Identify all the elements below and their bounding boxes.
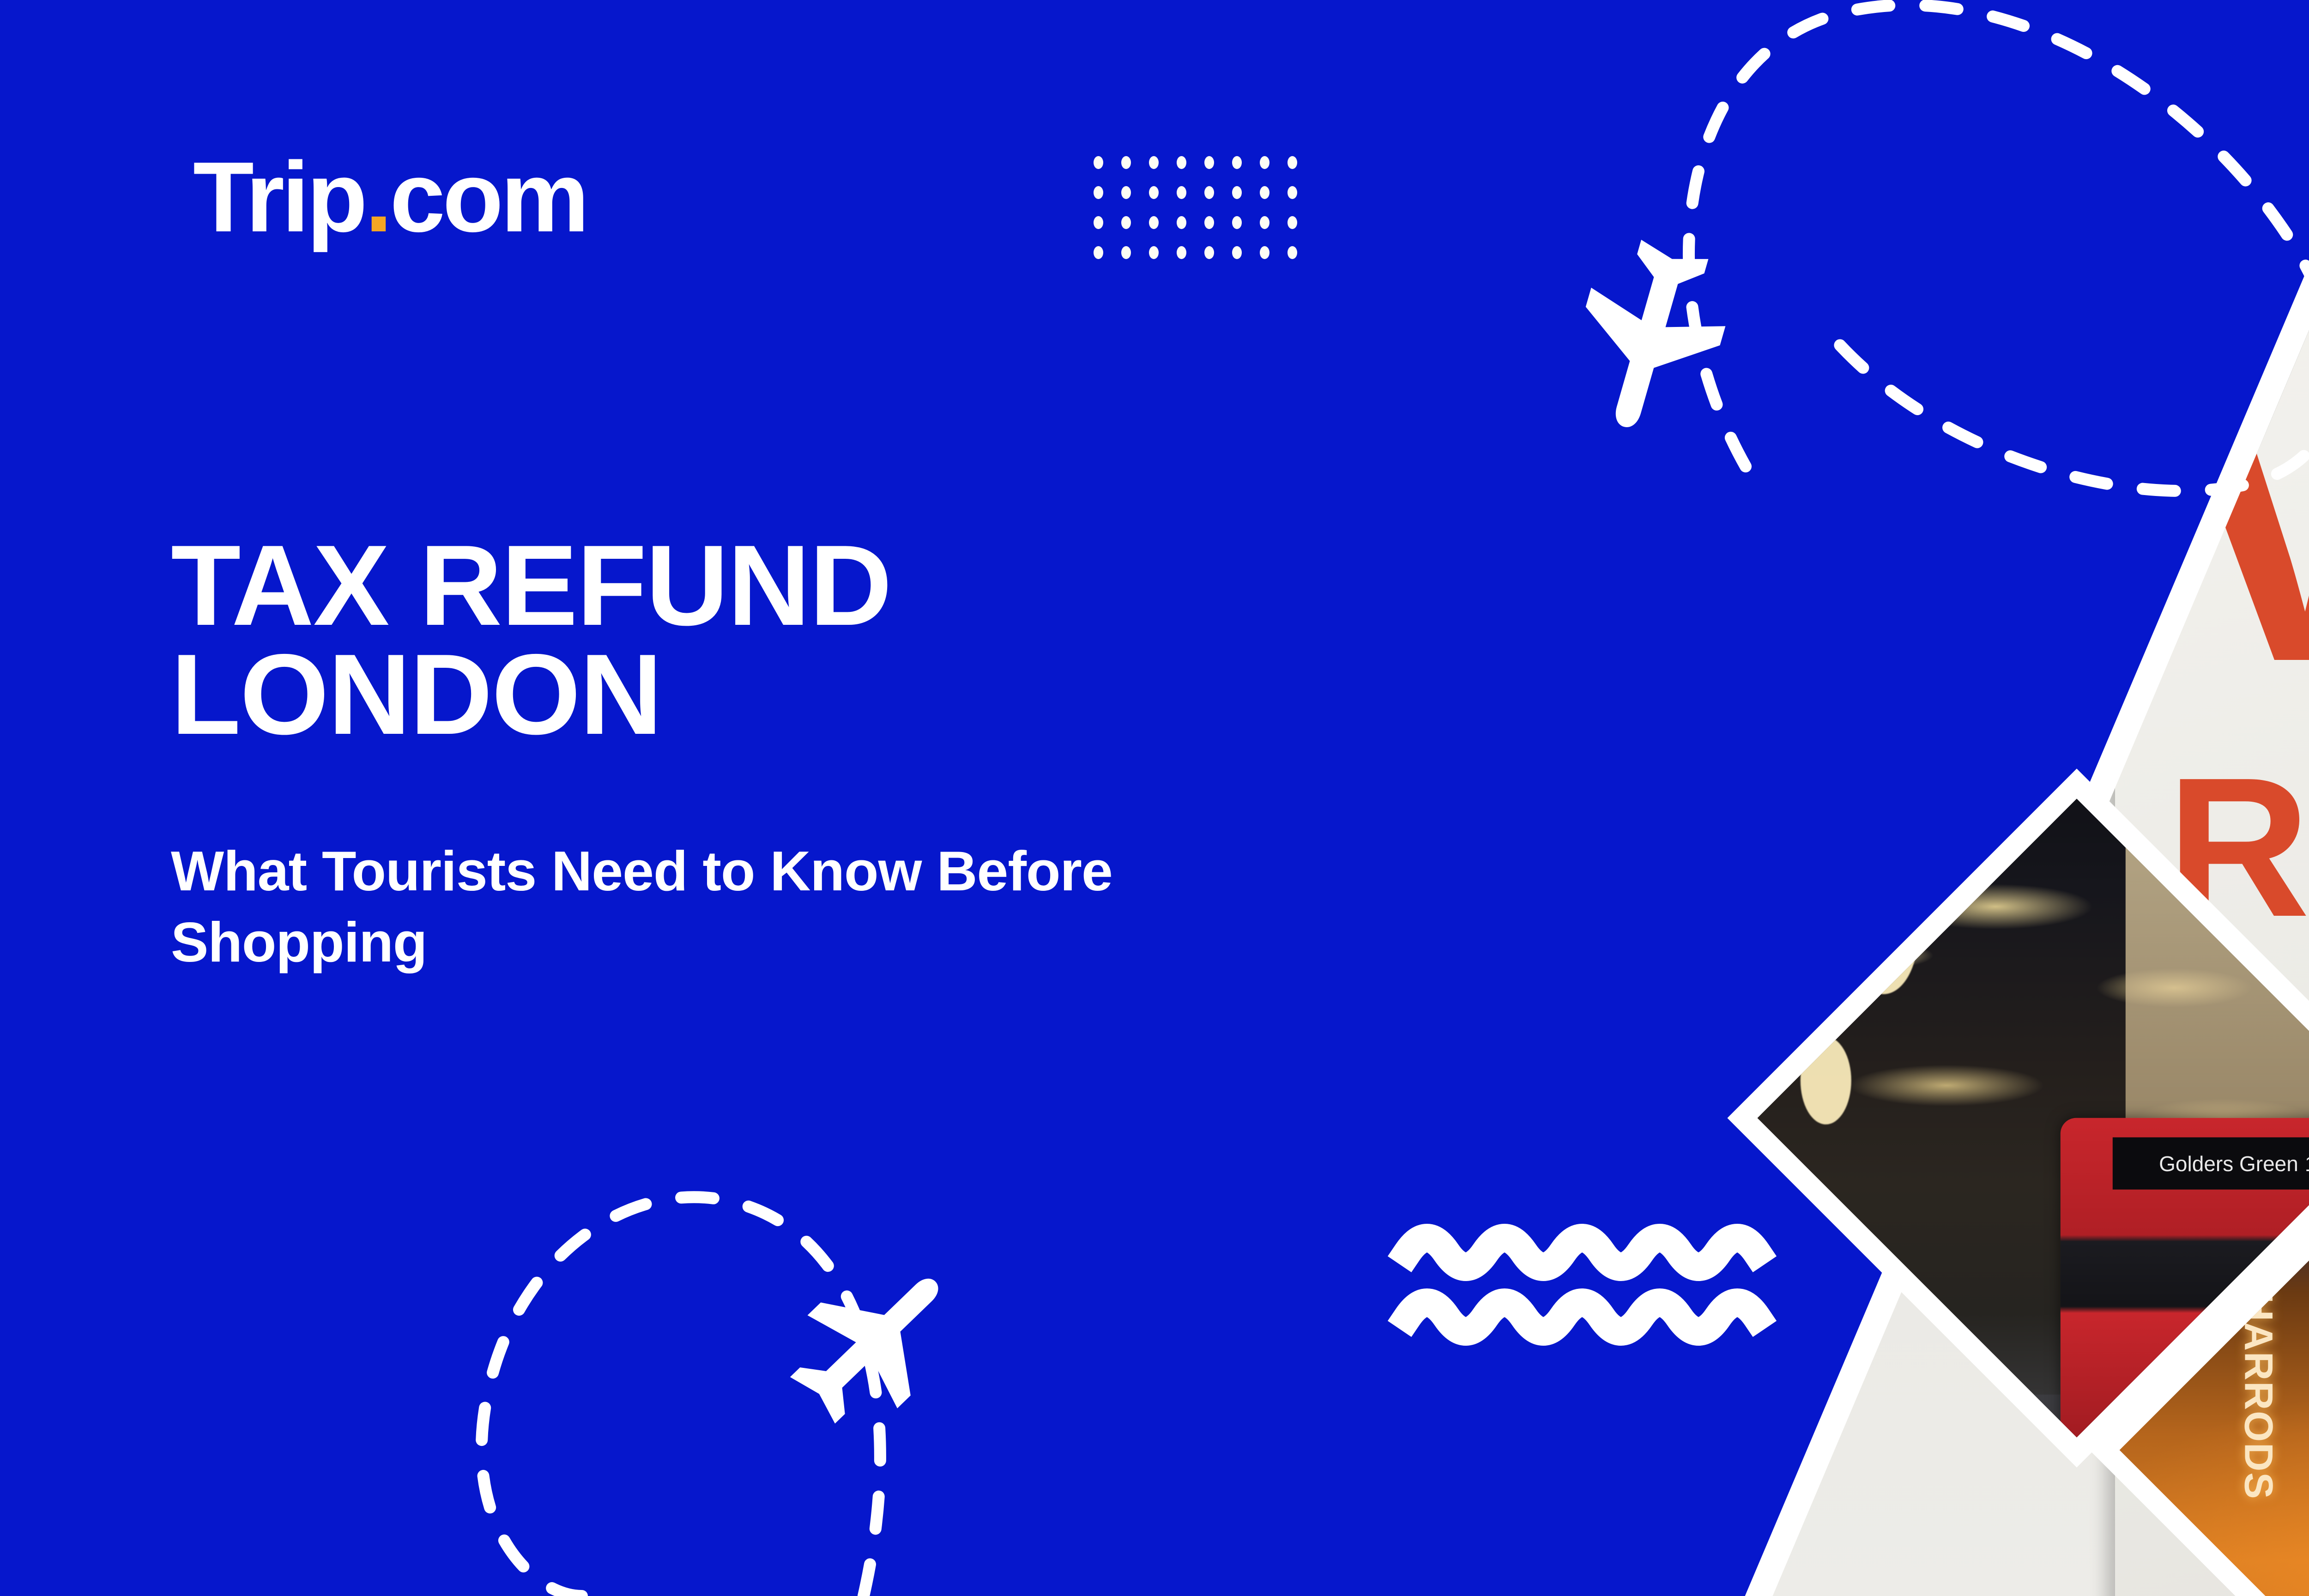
grid-dot	[1204, 246, 1214, 259]
grid-dot	[1149, 246, 1159, 259]
grid-dot	[1287, 186, 1297, 199]
logo-word-trip: Trip	[193, 147, 365, 247]
grid-dot	[1121, 156, 1131, 169]
grid-dot	[1094, 246, 1103, 259]
grid-dot	[1094, 216, 1103, 229]
shopfront-interior	[1736, 0, 2097, 933]
board-word-vat: VAT	[2166, 337, 2309, 695]
grid-dot	[1287, 246, 1297, 259]
grid-dot	[1204, 156, 1214, 169]
grid-dot	[1260, 186, 1269, 199]
grid-dot	[1287, 156, 1297, 169]
angel-light-figure	[1849, 874, 1918, 994]
grid-dot	[1149, 156, 1159, 169]
page-title: TAX REFUND LONDON	[171, 531, 1372, 749]
grid-dot	[1260, 156, 1269, 169]
logo-dot: .	[365, 147, 390, 247]
grid-dot	[1204, 216, 1214, 229]
grid-dot	[1177, 156, 1186, 169]
bus-route-number: 13	[2305, 1151, 2309, 1176]
grid-dot	[1149, 186, 1159, 199]
harrods-sign-text: HARRODS	[2240, 1293, 2276, 1500]
grid-dot	[1232, 186, 1242, 199]
grid-dot	[1177, 186, 1186, 199]
grid-dot	[1177, 216, 1186, 229]
door-frame	[1875, 37, 1896, 868]
page-subtitle: What Tourists Need to Know Before Shoppi…	[171, 836, 1381, 978]
bus-destination-sign: Golders Green 13	[2113, 1137, 2309, 1190]
title-line-2: LONDON	[171, 640, 1372, 749]
grid-dot	[1232, 216, 1242, 229]
bus-destination-text: Golders Green	[2159, 1151, 2298, 1176]
grid-dot	[1287, 216, 1297, 229]
trip-com-logo[interactable]: Trip.com	[193, 147, 586, 247]
grid-dot	[1260, 246, 1269, 259]
logo-word-com: com	[390, 147, 586, 247]
grid-dot	[1204, 186, 1214, 199]
grid-dot	[1121, 246, 1131, 259]
grid-dot	[1149, 216, 1159, 229]
grid-dot	[1177, 246, 1186, 259]
grid-dot	[1121, 186, 1131, 199]
angel-light-figure	[1800, 1037, 1851, 1124]
banner-canvas: VAT Refund VAT REFUNDS Y THE PERSON NG V…	[0, 0, 2309, 1596]
door-frame-secondary	[2032, 9, 2048, 910]
grid-dot	[1121, 216, 1131, 229]
grid-dot	[1094, 156, 1103, 169]
grid-dot	[1232, 246, 1242, 259]
grid-dot	[1260, 216, 1269, 229]
grid-dot	[1094, 186, 1103, 199]
grid-dot	[1232, 156, 1242, 169]
dot-grid-decoration	[1094, 156, 1297, 259]
